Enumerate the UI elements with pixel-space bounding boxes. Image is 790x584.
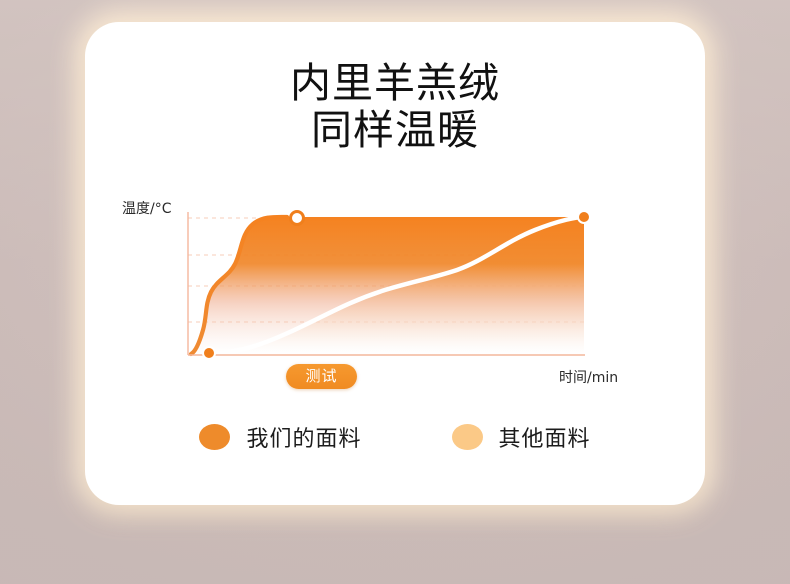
legend-dot-other <box>452 424 483 450</box>
legend-label-other: 其他面料 <box>499 421 591 453</box>
page-root: 内里羊羔绒 同样温暖 <box>0 0 790 584</box>
promo-card: 内里羊羔绒 同样温暖 <box>85 22 705 505</box>
chart-x-axis-label: 时间/min <box>559 367 618 387</box>
marker-start-ours <box>203 347 215 359</box>
title-line-2: 同样温暖 <box>85 107 705 154</box>
marker-end-other <box>578 211 590 223</box>
chart-legend: 我们的面料 其他面料 <box>85 407 705 467</box>
legend-dot-ours <box>199 424 230 450</box>
legend-item-ours: 我们的面料 <box>199 421 361 453</box>
legend-item-other: 其他面料 <box>452 421 591 453</box>
marker-plateau-ours <box>291 212 304 225</box>
chart-y-axis-label: 温度/°C <box>122 198 172 218</box>
series-area-ours <box>191 217 584 355</box>
page-title: 内里羊羔绒 同样温暖 <box>85 60 705 154</box>
test-badge: 测试 <box>286 364 357 389</box>
temperature-chart: 温度/°C 时间/min 测试 <box>85 172 705 402</box>
title-line-1: 内里羊羔绒 <box>85 60 705 107</box>
legend-label-ours: 我们的面料 <box>246 421 361 453</box>
